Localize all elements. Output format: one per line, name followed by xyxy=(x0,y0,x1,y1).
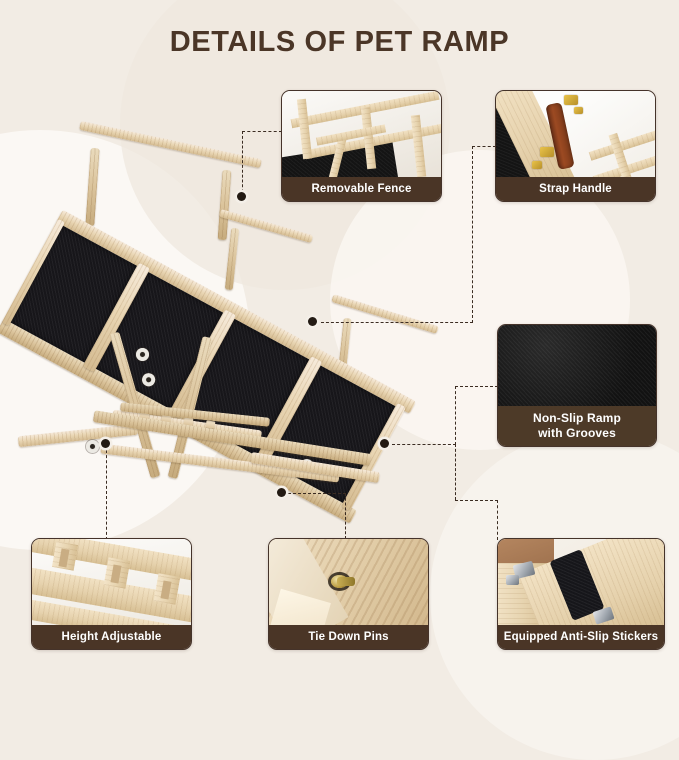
callout-label-non-slip-ramp: Non-Slip Ramp with Grooves xyxy=(498,406,656,446)
connector-line-anti-slip-stickers xyxy=(455,500,498,501)
connector-line-non-slip-ramp xyxy=(455,386,498,387)
connector-line-strap-handle xyxy=(472,146,496,147)
callout-removable-fence[interactable]: Removable Fence xyxy=(281,90,442,202)
connector-line-anti-slip-stickers xyxy=(455,444,456,500)
connector-line-anti-slip-stickers xyxy=(497,500,498,540)
callout-label-strap-handle: Strap Handle xyxy=(496,177,655,201)
callout-label-line-2: with Grooves xyxy=(538,426,616,441)
callout-label-anti-slip-stickers: Equipped Anti-Slip Stickers xyxy=(498,625,664,649)
connector-line-removable-fence xyxy=(242,131,243,197)
callout-anti-slip-stickers[interactable]: Equipped Anti-Slip Stickers xyxy=(497,538,665,650)
callout-tie-down-pins[interactable]: Tie Down Pins xyxy=(268,538,429,650)
callout-image-strap-handle xyxy=(496,91,655,179)
connector-dot-height-adjustable xyxy=(101,439,110,448)
connector-dot-tie-down-pins xyxy=(277,488,286,497)
connector-dot-removable-fence xyxy=(237,192,246,201)
connector-line-height-adjustable xyxy=(106,450,107,540)
connector-line-tie-down-pins xyxy=(345,493,346,539)
connector-line-removable-fence xyxy=(242,131,282,132)
callout-label-line-1: Non-Slip Ramp xyxy=(533,411,621,426)
callout-image-anti-slip-stickers xyxy=(498,539,664,627)
page-title: DETAILS OF PET RAMP xyxy=(0,26,679,59)
connector-line-non-slip-ramp xyxy=(455,386,456,445)
connector-line-strap-handle xyxy=(472,146,473,323)
callout-image-non-slip-ramp xyxy=(498,325,656,408)
callout-label-removable-fence: Removable Fence xyxy=(282,177,441,201)
infographic-canvas: DETAILS OF PET RAMP xyxy=(0,0,679,679)
callout-image-tie-down-pins xyxy=(269,539,428,627)
connector-line-strap-handle xyxy=(316,322,473,323)
connector-line-tie-down-pins xyxy=(288,493,346,494)
callout-image-height-adjustable xyxy=(32,539,191,627)
callout-height-adjustable[interactable]: Height Adjustable xyxy=(31,538,192,650)
callout-label-tie-down-pins: Tie Down Pins xyxy=(269,625,428,649)
connector-dot-strap-handle xyxy=(308,317,317,326)
callout-strap-handle[interactable]: Strap Handle xyxy=(495,90,656,202)
connector-dot-non-slip-ramp xyxy=(380,439,389,448)
callout-image-removable-fence xyxy=(282,91,441,179)
callout-non-slip-ramp[interactable]: Non-Slip Ramp with Grooves xyxy=(497,324,657,447)
connector-line-non-slip-ramp xyxy=(392,444,456,445)
callout-label-height-adjustable: Height Adjustable xyxy=(32,625,191,649)
